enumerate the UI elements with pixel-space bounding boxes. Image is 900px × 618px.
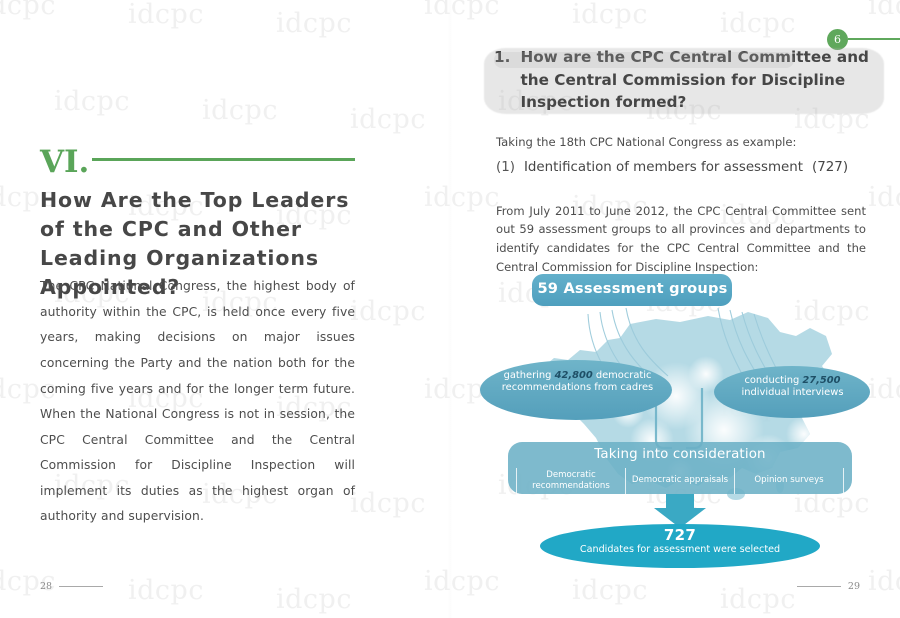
consideration-item: Opinion surveys	[734, 468, 844, 494]
folio-left-number: 28	[40, 581, 52, 592]
left-page-body-paragraph: The CPC National Congress, the highest b…	[40, 274, 355, 530]
right-oval-prefix: conducting	[744, 375, 802, 386]
left-oval-number: 42,800	[555, 370, 593, 381]
section-marker-rule	[848, 38, 900, 41]
folio-left: 28	[40, 581, 103, 592]
consideration-item: Democratic appraisals	[625, 468, 734, 494]
result-value: 727	[520, 526, 840, 544]
left-page: VI. How Are the Top Leaders of the CPC a…	[0, 0, 450, 618]
subsection-title: Identification of members for assessment	[524, 160, 803, 175]
intro-line: Taking the 18th CPC National Congress as…	[496, 135, 866, 149]
left-oval-prefix: gathering	[504, 370, 555, 381]
chapter-rule	[92, 158, 355, 161]
folio-left-rule	[59, 586, 103, 587]
right-oval-label: conducting 27,500 individual interviews	[720, 375, 865, 399]
result-caption: Candidates for assessment were selected	[520, 544, 840, 556]
right-oval-number: 27,500	[802, 375, 840, 386]
consideration-title: Taking into consideration	[520, 447, 840, 463]
subsection-count: (727)	[812, 160, 848, 175]
folio-right: 29	[797, 581, 860, 592]
consideration-items: Democratic recommendations Democratic ap…	[516, 468, 844, 494]
left-oval-label: gathering 42,800 democratic recommendati…	[490, 370, 665, 394]
right-oval-suffix: individual interviews	[742, 387, 844, 398]
heading-highlight-brush-tail	[494, 52, 794, 68]
chapter-numeral-row: VI.	[40, 138, 355, 174]
folio-right-number: 29	[848, 581, 860, 592]
assessment-process-infographic: 59 Assessment groups gathering 42,800 de…	[480, 262, 880, 582]
book-spread: VI. How Are the Top Leaders of the CPC a…	[0, 0, 900, 618]
subsection-heading: (1) Identification of members for assess…	[496, 160, 876, 175]
subsection-number: (1)	[496, 160, 515, 175]
top-pill-label: 59 Assessment groups	[535, 280, 730, 298]
consideration-item: Democratic recommendations	[516, 468, 625, 494]
chapter-numeral: VI.	[40, 147, 89, 178]
right-page: 6 1. How are the CPC Central Committee a…	[450, 0, 900, 618]
folio-right-rule	[797, 586, 841, 587]
down-arrow-icon	[654, 494, 706, 528]
